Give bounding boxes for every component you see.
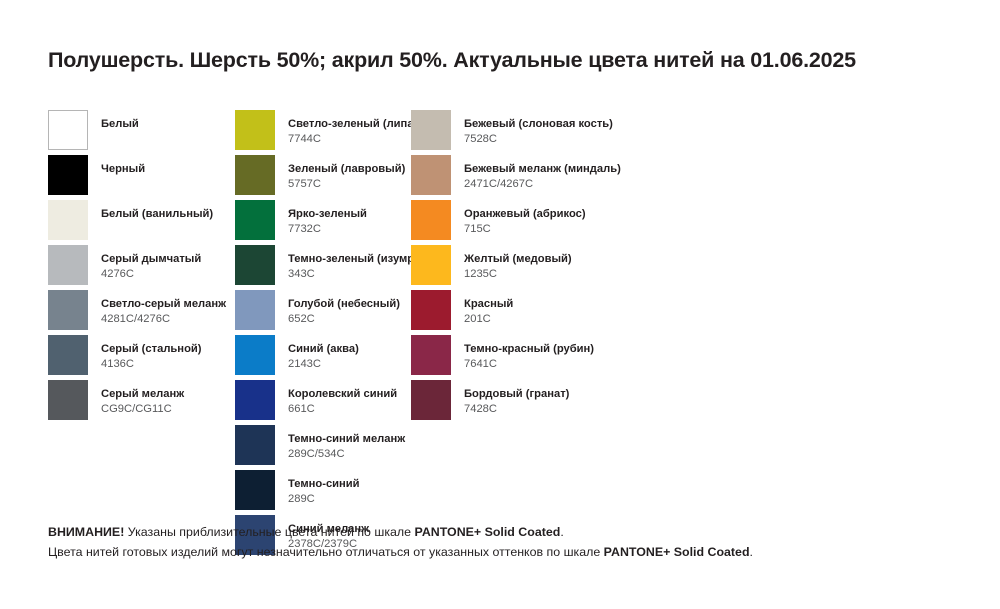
color-name: Черный [101,162,145,176]
color-swatch-text: Черный [101,155,145,176]
pantone-code: 7732C [288,222,367,236]
color-swatch-text: Голубой (небесный)652C [288,290,400,327]
color-swatch [48,290,88,330]
color-swatch-text: Бежевый меланж (миндаль)2471C/4267C [464,155,621,192]
color-swatch-text: Темно-синий289C [288,470,360,507]
color-swatch-text: Бордовый (гранат)7428C [464,380,569,417]
color-swatch [235,335,275,375]
color-column-greens-blues: Светло-зеленый (липа)7744CЗеленый (лавро… [235,110,411,560]
color-swatch-row: Бежевый (слоновая кость)7528C [411,110,711,155]
color-name: Серый меланж [101,387,184,401]
color-swatch-row: Синий (аква)2143C [235,335,411,380]
pantone-code: 7428C [464,402,569,416]
color-swatch [411,155,451,195]
pantone-code: 4136C [101,357,202,371]
color-swatch-text: Серый дымчатый4276C [101,245,201,282]
color-swatch-row: Темно-синий меланж289C/534C [235,425,411,470]
pantone-code: 661C [288,402,397,416]
color-swatch [235,200,275,240]
color-swatch [48,380,88,420]
pantone-code: CG9C/CG11C [101,402,184,416]
color-swatch-text: Серый (стальной)4136C [101,335,202,372]
footer-line-2-text: Цвета нитей готовых изделий могут незнач… [48,545,604,559]
color-swatch [48,110,88,150]
pantone-code: 2143C [288,357,359,371]
color-swatch-row: Зеленый (лавровый)5757C [235,155,411,200]
color-swatch-row: Темно-зеленый (изумруд)343C [235,245,411,290]
color-swatch-row: Светло-серый меланж4281C/4276C [48,290,235,335]
footer-line-2: Цвета нитей готовых изделий могут незнач… [48,542,968,562]
color-swatch-row: Черный [48,155,235,200]
footer-line-1-text: Указаны приблизительные цвета нитей по ш… [124,525,414,539]
color-name: Светло-серый меланж [101,297,226,311]
color-swatch [411,200,451,240]
color-swatch [235,380,275,420]
color-swatch-row: Бордовый (гранат)7428C [411,380,711,425]
footer-attention-label: ВНИМАНИЕ! [48,525,124,539]
footer-line-1-end: . [560,525,563,539]
pantone-code: 289C [288,492,360,506]
color-swatch-row: Голубой (небесный)652C [235,290,411,335]
color-name: Темно-синий [288,477,360,491]
color-name: Серый (стальной) [101,342,202,356]
color-swatch [411,290,451,330]
pantone-code: 289C/534C [288,447,405,461]
color-swatch-text: Темно-синий меланж289C/534C [288,425,405,462]
color-swatch-text: Бежевый (слоновая кость)7528C [464,110,613,147]
color-swatch-text: Темно-зеленый (изумруд)343C [288,245,431,282]
color-chart-page: Полушерсть. Шерсть 50%; акрил 50%. Актуа… [0,0,1000,609]
pantone-code: 343C [288,267,431,281]
color-swatch-row: Белый [48,110,235,155]
color-swatch-text: Белый (ванильный) [101,200,213,221]
color-name: Зеленый (лавровый) [288,162,405,176]
color-swatch [235,110,275,150]
color-name: Бордовый (гранат) [464,387,569,401]
color-swatch-text: Красный201C [464,290,513,327]
color-name: Белый [101,117,139,131]
pantone-code: 652C [288,312,400,326]
color-swatch-row: Королевский синий661C [235,380,411,425]
color-name: Ярко-зеленый [288,207,367,221]
color-swatch [48,200,88,240]
color-name: Голубой (небесный) [288,297,400,311]
color-swatch-text: Ярко-зеленый7732C [288,200,367,237]
color-swatch [411,380,451,420]
color-swatch-row: Белый (ванильный) [48,200,235,245]
footer-note: ВНИМАНИЕ! Указаны приблизительные цвета … [48,522,968,562]
color-swatch-row: Серый меланжCG9C/CG11C [48,380,235,425]
color-name: Светло-зеленый (липа) [288,117,417,131]
pantone-code: 4276C [101,267,201,281]
color-name: Красный [464,297,513,311]
color-name: Бежевый (слоновая кость) [464,117,613,131]
color-swatch-text: Светло-зеленый (липа)7744C [288,110,417,147]
color-swatch [48,245,88,285]
pantone-code: 7744C [288,132,417,146]
color-swatch [235,470,275,510]
pantone-code: 201C [464,312,513,326]
color-swatch-text: Белый [101,110,139,131]
color-swatch-row: Бежевый меланж (миндаль)2471C/4267C [411,155,711,200]
color-name: Оранжевый (абрикос) [464,207,586,221]
pantone-code: 2471C/4267C [464,177,621,191]
color-name: Темно-красный (рубин) [464,342,594,356]
color-swatch-row: Желтый (медовый)1235C [411,245,711,290]
color-swatch [235,155,275,195]
color-name: Белый (ванильный) [101,207,213,221]
color-swatch-row: Светло-зеленый (липа)7744C [235,110,411,155]
color-name: Синий (аква) [288,342,359,356]
color-swatch-text: Светло-серый меланж4281C/4276C [101,290,226,327]
color-swatch [235,425,275,465]
color-column-neutrals: БелыйЧерныйБелый (ванильный)Серый дымчат… [48,110,235,425]
color-swatch-text: Королевский синий661C [288,380,397,417]
color-name: Желтый (медовый) [464,252,572,266]
pantone-brand-2: PANTONE+ Solid Coated [604,545,750,559]
pantone-code: 4281C/4276C [101,312,226,326]
color-name: Серый дымчатый [101,252,201,266]
color-swatch-text: Синий (аква)2143C [288,335,359,372]
color-name: Королевский синий [288,387,397,401]
color-column-warm-reds: Бежевый (слоновая кость)7528CБежевый мел… [411,110,711,425]
pantone-code: 7641C [464,357,594,371]
footer-line-2-end: . [750,545,753,559]
color-swatch-row: Темно-синий289C [235,470,411,515]
color-name: Темно-зеленый (изумруд) [288,252,431,266]
color-name: Бежевый меланж (миндаль) [464,162,621,176]
color-name: Темно-синий меланж [288,432,405,446]
pantone-code: 1235C [464,267,572,281]
color-swatch-row: Оранжевый (абрикос)715C [411,200,711,245]
color-swatch-row: Серый дымчатый4276C [48,245,235,290]
color-swatch [48,155,88,195]
color-swatch-text: Серый меланжCG9C/CG11C [101,380,184,417]
color-swatch-text: Зеленый (лавровый)5757C [288,155,405,192]
footer-line-1: ВНИМАНИЕ! Указаны приблизительные цвета … [48,522,968,542]
color-swatch-row: Ярко-зеленый7732C [235,200,411,245]
color-swatch [411,245,451,285]
page-title: Полушерсть. Шерсть 50%; акрил 50%. Актуа… [48,48,968,73]
color-swatch-text: Темно-красный (рубин)7641C [464,335,594,372]
color-swatch-text: Желтый (медовый)1235C [464,245,572,282]
color-swatch [235,290,275,330]
color-swatch-row: Серый (стальной)4136C [48,335,235,380]
color-columns: БелыйЧерныйБелый (ванильный)Серый дымчат… [48,110,968,560]
pantone-code: 5757C [288,177,405,191]
color-swatch [235,245,275,285]
color-swatch [411,335,451,375]
color-swatch-row: Красный201C [411,290,711,335]
color-swatch-text: Оранжевый (абрикос)715C [464,200,586,237]
color-swatch [48,335,88,375]
color-swatch [411,110,451,150]
color-swatch-row: Темно-красный (рубин)7641C [411,335,711,380]
pantone-code: 715C [464,222,586,236]
pantone-code: 7528C [464,132,613,146]
pantone-brand-1: PANTONE+ Solid Coated [414,525,560,539]
